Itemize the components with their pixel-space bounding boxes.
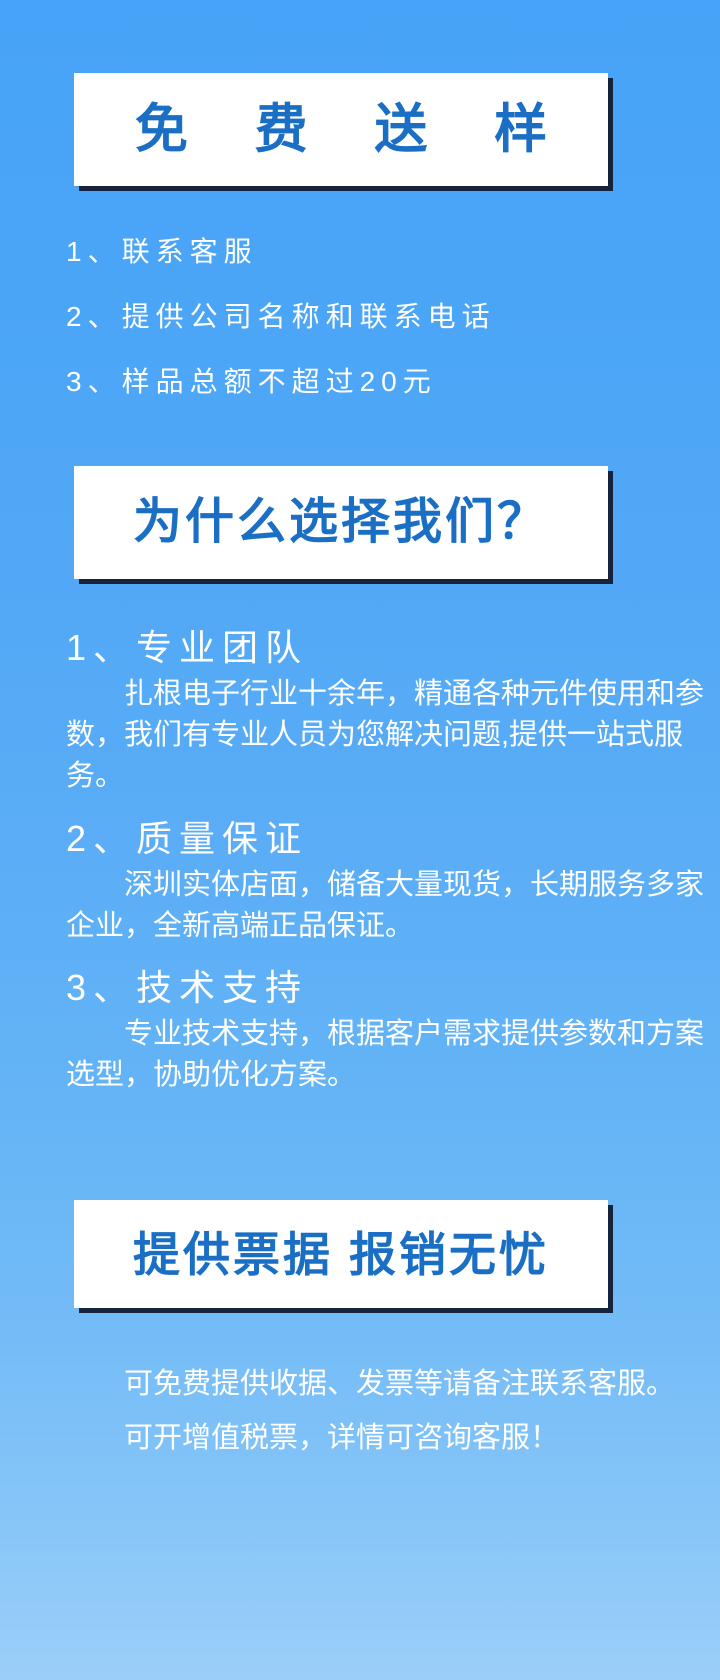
invoice-note-line: 可开增值税票，详情可咨询客服！ <box>66 1417 686 1459</box>
reason-body: 专业技术支持，根据客户需求提供参数和方案选型，协助优化方案。 <box>66 1014 706 1096</box>
promo-page: 免 费 送 样 1、联系客服 2、提供公司名称和联系电话 3、样品总额不超过20… <box>0 0 720 1680</box>
reason-heading: 1、专业团队 <box>66 625 706 670</box>
list-item: 1、联系客服 <box>66 238 686 266</box>
list-item: 3、样品总额不超过20元 <box>66 368 686 396</box>
banner-free-sample-title: 免 费 送 样 <box>109 103 573 156</box>
free-sample-steps-list: 1、联系客服 2、提供公司名称和联系电话 3、样品总额不超过20元 <box>66 238 686 433</box>
reason-heading: 3、技术支持 <box>66 965 706 1010</box>
banner-invoice-title: 提供票据 报销无忧 <box>133 1231 549 1278</box>
reason-body: 扎根电子行业十余年，精通各种元件使用和参数，我们有专业人员为您解决问题,提供一站… <box>66 674 706 798</box>
banner-why-choose-us: 为什么选择我们？ <box>74 466 608 579</box>
reason-item-quality-guarantee: 2、质量保证 深圳实体店面，储备大量现货，长期服务多家企业，全新高端正品保证。 <box>66 816 706 947</box>
banner-why-choose-us-title: 为什么选择我们？ <box>133 498 549 547</box>
reason-item-professional-team: 1、专业团队 扎根电子行业十余年，精通各种元件使用和参数，我们有专业人员为您解决… <box>66 625 706 798</box>
banner-free-sample: 免 费 送 样 <box>74 73 608 186</box>
list-item: 2、提供公司名称和联系电话 <box>66 303 686 331</box>
reason-heading: 2、质量保证 <box>66 816 706 861</box>
reason-item-technical-support: 3、技术支持 专业技术支持，根据客户需求提供参数和方案选型，协助优化方案。 <box>66 965 706 1096</box>
invoice-note-line: 可免费提供收据、发票等请备注联系客服。 <box>66 1363 686 1405</box>
banner-invoice: 提供票据 报销无忧 <box>74 1200 608 1308</box>
invoice-notes: 可免费提供收据、发票等请备注联系客服。 可开增值税票，详情可咨询客服！ <box>66 1363 686 1471</box>
reason-body: 深圳实体店面，储备大量现货，长期服务多家企业，全新高端正品保证。 <box>66 865 706 947</box>
reasons-list: 1、专业团队 扎根电子行业十余年，精通各种元件使用和参数，我们有专业人员为您解决… <box>66 625 706 1114</box>
